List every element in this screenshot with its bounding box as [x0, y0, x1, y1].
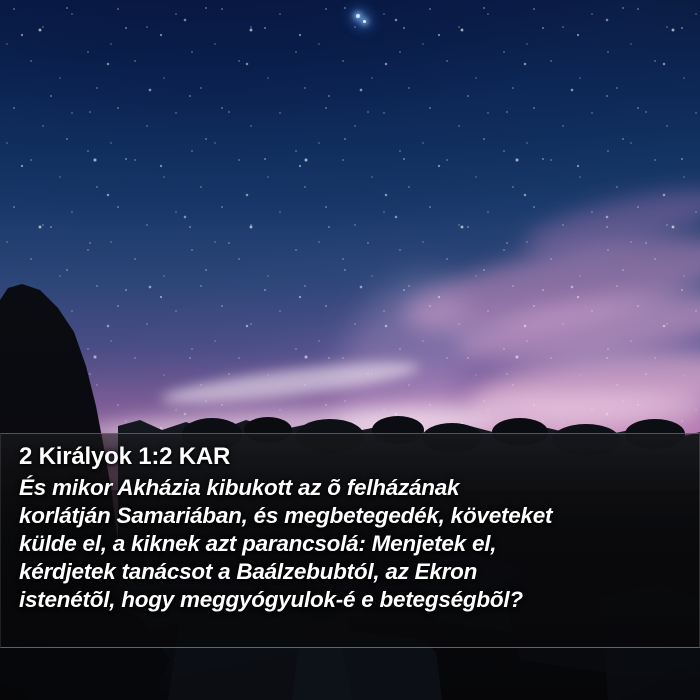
bright-star-icon — [363, 20, 366, 23]
verse-reference: 2 Királyok 1:2 KAR — [19, 442, 685, 472]
verse-line: kérdjetek tanácsot a Baálzebubtól, az Ek… — [19, 558, 685, 586]
bright-star-icon — [356, 14, 360, 18]
verse-line: külde el, a kiknek azt parancsolá: Menje… — [19, 530, 685, 558]
verse-text: És mikor Akházia kibukott az õ felházána… — [19, 474, 685, 614]
verse-image-canvas: 2 Királyok 1:2 KAR És mikor Akházia kibu… — [0, 0, 700, 700]
verse-line: korlátján Samariában, és megbetegedék, k… — [19, 502, 685, 530]
verse-line: És mikor Akházia kibukott az õ felházána… — [19, 474, 685, 502]
verse-line: istenétõl, hogy meggyógyulok-é e betegsé… — [19, 586, 685, 614]
verse-overlay-panel: 2 Királyok 1:2 KAR És mikor Akházia kibu… — [0, 433, 700, 648]
